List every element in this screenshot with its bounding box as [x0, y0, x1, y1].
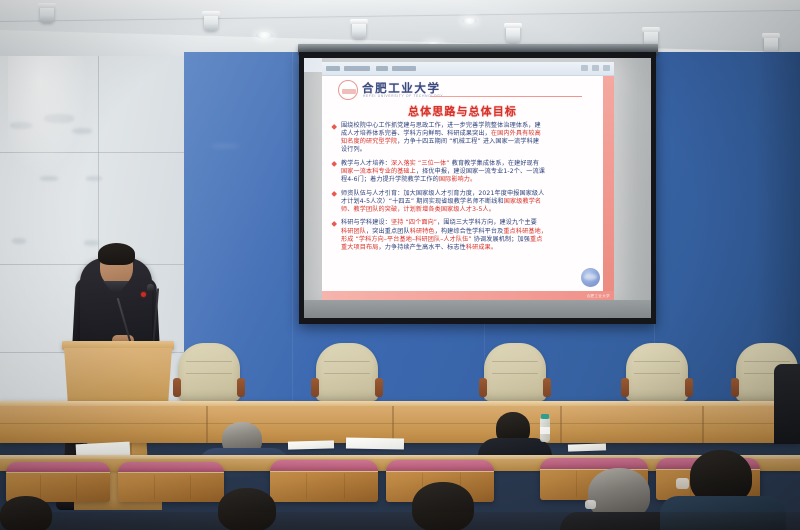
projection-screen: 合肥工业大学 HEFEI UNIVERSITY OF TECHNOLOGY 总体… [299, 52, 656, 324]
slide-bullet-line: 科研与学科建设：坚持 “四个面向”，围绕三大学科方向，建设九个主要 [341, 219, 599, 227]
powerpoint-window-gutter [304, 58, 322, 300]
close-icon[interactable] [603, 65, 610, 71]
track-spotlight-icon [204, 14, 218, 31]
slide-bullet-line: 形成 “学科方向–平台基地–科研团队–人才队伍” 协调发展机制；加强重点 [332, 236, 599, 244]
slide-bullet-line: 教学与人才培养：深入落实 “三位一体” 教育教学集成体系，在建好现有 [341, 160, 599, 168]
slide-bullet: 围绕校院中心工作抓党建与思政工作，进一步完善学院整体治理体系，建成人才培养体系完… [332, 122, 599, 154]
slide-bullet-list: 围绕校院中心工作抓党建与思政工作，进一步完善学院整体治理体系，建成人才培养体系完… [332, 122, 599, 289]
slide-bullet-line: 科研团队，突出重点团队科研特色，构建综合性学科平台及重点科研基地， [332, 228, 599, 236]
body-text: ，力争十四五期间 “机械工程” 进入国家一流学科建 [397, 138, 539, 145]
highlighted-text: 重大项目布局 [341, 244, 378, 251]
slide-bullet-line: 设行列。 [332, 146, 599, 154]
auditorium-seat [270, 460, 378, 502]
body-text: ，构建综合性学科平台及 [435, 228, 504, 235]
highlighted-text: 国家级教学名 [504, 198, 541, 205]
body-text: 才计划4-5人次）“十四五” 期间实现省级教学名师不断线和 [341, 198, 504, 205]
highlighted-text: 国家级人才3-5人。 [441, 206, 495, 213]
diamond-bullet-icon [331, 124, 337, 130]
slide-bullet-line: 程4-6门；着力提升学院教学工作的国际影响力。 [332, 176, 599, 184]
body-text: 协调发展机制；加强 [472, 236, 530, 243]
body-text: 加大国家级人才引育力度，2021年度申报国家级人 [403, 190, 544, 197]
screen-lower-shadow [304, 300, 651, 318]
body-text: 师资队伍与人才引育： [341, 190, 403, 197]
floor-shadow [0, 512, 800, 530]
highlighted-text: 深入落实 “三位一体” [391, 160, 450, 167]
highlighted-text: 知名度的研究型学院 [341, 138, 397, 145]
presenter-lapel-badge [141, 292, 146, 297]
slide-accent-bar-bottom: 合肥工业大学 [322, 291, 614, 300]
head-table-chair [484, 343, 546, 401]
header-rule [430, 96, 582, 97]
slide-accent-bar-right [603, 76, 614, 300]
front-desk-barrier [0, 401, 800, 443]
body-text: ，突出重点团队 [366, 228, 410, 235]
highlighted-text: 重点科研基地， [503, 228, 547, 235]
slide-bullet-line: 师、教学团队的突破，计划新增各类国家级人才3-5人。 [332, 206, 599, 214]
screen-surface: 合肥工业大学 HEFEI UNIVERSITY OF TECHNOLOGY 总体… [304, 58, 651, 318]
paper-document-icon [288, 440, 334, 449]
slide-bullet: 教学与人才培养：深入落实 “三位一体” 教育教学集成体系，在建好现有国家一流本科… [332, 160, 599, 184]
highlighted-text: 国际影响力。 [439, 176, 476, 183]
slide-body: 合肥工业大学 HEFEI UNIVERSITY OF TECHNOLOGY 总体… [322, 76, 614, 300]
slide-bullet-line: 国家一流本科专业的基础上，择优申报，建设国家一流专业1-2个、一流课 [332, 168, 599, 176]
body-text: 教育教学集成体系，在建好现有 [450, 160, 540, 167]
auditorium-scene: 合肥工业大学 HEFEI UNIVERSITY OF TECHNOLOGY 总体… [0, 0, 800, 530]
slide-bullet: 师资队伍与人才引育：加大国家级人才引育力度，2021年度申报国家级人才计划4-5… [332, 190, 599, 214]
slide-title: 总体思路与总体目标 [322, 103, 603, 119]
highlighted-text: 形成 “学科方向–平台基地–科研团队–人才队伍” [341, 236, 472, 243]
standing-attendee [774, 364, 800, 444]
slide-bullet-line: 成人才培养体系完善、学科方向鲜明、科研成果突出，在国内外具有较高 [332, 130, 599, 138]
slide-bullet-line: 重大项目布局，力争持续产生高水平、标志性科研成果。 [332, 244, 599, 252]
highlighted-text: 科研成果。 [466, 244, 497, 251]
slide-header: 合肥工业大学 HEFEI UNIVERSITY OF TECHNOLOGY [338, 78, 596, 104]
diamond-bullet-icon [331, 191, 337, 197]
maximize-icon[interactable] [592, 65, 599, 71]
track-spotlight-icon [40, 6, 54, 23]
minimize-icon[interactable] [581, 65, 588, 71]
highlighted-text: 国家一流本科专业的基础上 [341, 168, 416, 175]
projected-slide: 合肥工业大学 HEFEI UNIVERSITY OF TECHNOLOGY 总体… [322, 62, 614, 300]
highlighted-text: 师、教学团队的突破，计划新增各类 [341, 206, 441, 213]
recessed-downlight-icon [256, 32, 273, 39]
paper-document-icon [568, 443, 606, 451]
body-text: ，围绕三大学科方向，建设九个主要 [437, 219, 537, 226]
highlighted-text: 科研特色 [410, 228, 435, 235]
body-text: ，力争持续产生高水平、标志性 [378, 244, 465, 251]
highlighted-text: 在国内外具有较高 [491, 130, 541, 137]
body-text: 围绕校院中心工作抓党建与思政工作，进一步完善学院整体治理体系，建 [341, 122, 541, 129]
highlighted-text: 科研团队 [341, 228, 366, 235]
slide-bullet-line: 师资队伍与人才引育：加大国家级人才引育力度，2021年度申报国家级人 [341, 190, 599, 198]
highlighted-text: 重点 [530, 236, 543, 243]
body-text: 成人才培养体系完善、学科方向鲜明、科研成果突出， [341, 130, 491, 137]
university-seal-icon [338, 80, 358, 100]
diamond-bullet-icon [331, 221, 337, 227]
body-text: ，择优申报，建设国家一流专业1-2个、一流课 [416, 168, 545, 175]
head-table-chair [178, 343, 240, 401]
recessed-downlight-icon [462, 18, 477, 24]
slide-bullet: 科研与学科建设：坚持 “四个面向”，围绕三大学科方向，建设九个主要科研团队，突出… [332, 219, 599, 251]
microphone-capsule-icon [147, 284, 154, 292]
head-table-chair [626, 343, 688, 401]
body-text: 教学与人才培养： [341, 160, 391, 167]
face-mask-icon [585, 500, 596, 509]
track-spotlight-icon [764, 36, 778, 53]
slide-bullet-line: 围绕校院中心工作抓党建与思政工作，进一步完善学院整体治理体系，建 [341, 122, 599, 130]
diamond-bullet-icon [331, 162, 337, 168]
slide-watermark-globe-icon [581, 268, 600, 287]
slide-footer-text: 合肥工业大学 [587, 294, 610, 299]
face-mask-icon [676, 478, 689, 489]
paper-document-icon [346, 437, 404, 449]
body-text: 设行列。 [341, 146, 366, 153]
body-text: 程4-6门；着力提升学院教学工作的 [341, 176, 439, 183]
track-spotlight-icon [506, 26, 520, 43]
left-wall-highlight [8, 56, 88, 176]
slide-bullet-line: 才计划4-5人次）“十四五” 期间实现省级教学名师不断线和国家级教学名 [332, 198, 599, 206]
body-text: 科研与学科建设： [341, 219, 391, 226]
powerpoint-titlebar [322, 62, 614, 76]
track-spotlight-icon [352, 22, 366, 39]
ceiling-soffit [0, 0, 800, 22]
slide-bullet-line: 知名度的研究型学院，力争十四五期间 “机械工程” 进入国家一流学科建 [332, 138, 599, 146]
presenter-hair [98, 243, 135, 265]
highlighted-text: 坚持 “四个面向” [391, 219, 437, 226]
head-table-chair [316, 343, 378, 401]
auditorium-seat [118, 462, 224, 502]
water-bottle-icon [540, 418, 550, 442]
